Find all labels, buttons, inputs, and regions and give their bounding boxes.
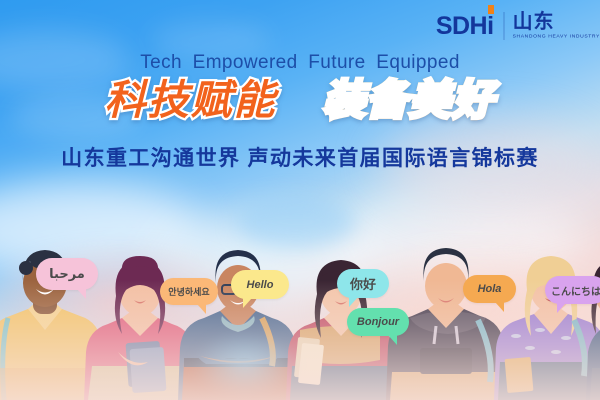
speech-bubble-spanish: Hola xyxy=(463,275,516,303)
subtitle: 山东重工沟通世界 声动未来首届国际语言锦标赛 xyxy=(0,142,600,172)
main-title-part-a: 科技赋能 xyxy=(105,77,277,123)
brand-logo: SDH i 山东 SHANDONG HEAVY INDUSTRY xyxy=(422,8,600,44)
brand-chinese-name: 山东 SHANDONG HEAVY INDUSTRY xyxy=(503,12,600,40)
orange-dot-icon xyxy=(488,5,494,14)
poster-canvas: مرحبا 안녕하세요 Hello 你好 Bonjour Hola こんにちは … xyxy=(0,0,600,400)
main-title-part-b: 装备美好 xyxy=(323,77,495,123)
speech-bubble-text: 你好 xyxy=(350,274,376,293)
brand-chinese-subtext: SHANDONG HEAVY INDUSTRY xyxy=(513,34,600,40)
tagline-english: Tech Empowered Future Equipped xyxy=(0,52,600,74)
speech-bubble-french: Bonjour xyxy=(347,308,409,336)
main-title: 科技赋能 装备美好 xyxy=(0,78,600,124)
speech-bubble-text: مرحبا xyxy=(49,266,85,282)
speech-bubble-chinese: 你好 xyxy=(337,269,389,298)
speech-bubble-text: Hello xyxy=(247,279,274,291)
speech-bubble-japanese: こんにちは xyxy=(545,276,600,304)
sdhi-wordmark: SDH i xyxy=(436,14,494,39)
sdhi-wordmark-text: SDH xyxy=(436,14,487,39)
speech-bubble-korean: 안녕하세요 xyxy=(160,278,218,305)
headline-block: Tech Empowered Future Equipped 科技赋能 装备美好… xyxy=(0,52,600,172)
sdhi-wordmark-i-letter: i xyxy=(487,12,493,40)
speech-bubble-text: Bonjour xyxy=(357,316,399,328)
sdhi-wordmark-i: i xyxy=(487,14,493,39)
speech-bubble-text: 안녕하세요 xyxy=(168,285,209,298)
brand-chinese-text: 山东 xyxy=(513,12,555,33)
speech-bubble-text: こんにちは xyxy=(551,283,600,298)
speech-bubble-arabic: مرحبا xyxy=(36,258,98,290)
speech-bubble-text: Hola xyxy=(478,283,502,295)
speech-bubble-english: Hello xyxy=(231,270,289,299)
